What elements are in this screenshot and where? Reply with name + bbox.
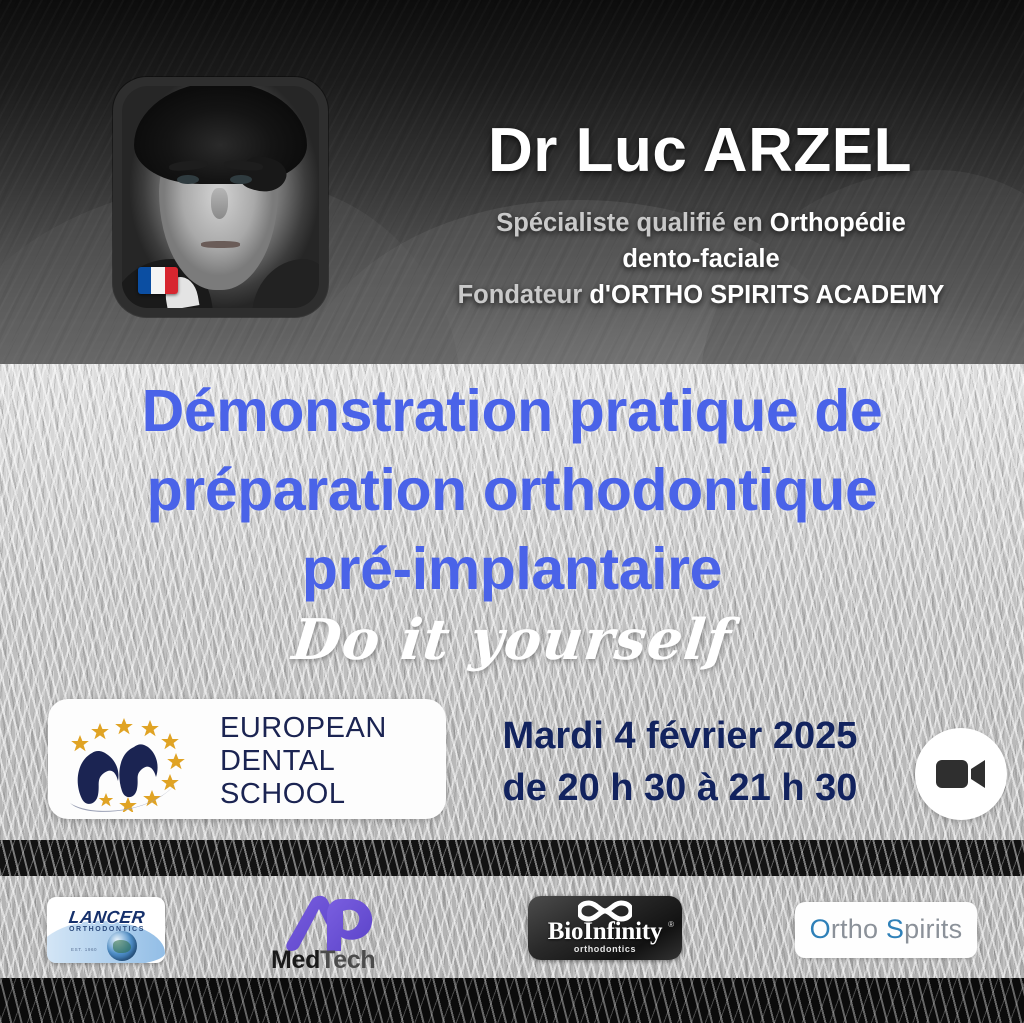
speaker-credentials: Spécialiste qualifié en Orthopédie dento… (406, 205, 996, 314)
european-dental-school-wordmark: EUROPEAN DENTAL SCHOOL (220, 712, 387, 810)
lancer-orthodontics-logo[interactable]: LANCER ORTHODONTICS EST. 1960 (47, 897, 165, 963)
bioinfinity-orthodontics-logo[interactable]: BioInfinity ® orthodontics (528, 896, 682, 960)
bioinfinity-registered-mark: ® (668, 920, 674, 929)
medtech-wordmark: MedTech (271, 946, 375, 975)
portrait-eye-left (177, 175, 199, 184)
portrait-mouth (201, 241, 240, 248)
speaker-portrait-photo (122, 86, 319, 308)
bioinfinity-subtitle: orthodontics (528, 944, 682, 954)
portrait-shoulder-right (252, 259, 319, 308)
event-title-line-3: pré-implantaire (50, 530, 974, 609)
event-title-line-1: Démonstration pratique de (50, 372, 974, 451)
credential-line-2: dento-faciale (406, 241, 996, 277)
eds-line-2: DENTAL (220, 745, 387, 778)
portrait-hair (134, 86, 307, 184)
ortho-spirits-wordmark: Ortho Spirits (795, 914, 977, 945)
event-title: Démonstration pratique de préparation or… (50, 372, 974, 609)
eds-line-3: SCHOOL (220, 778, 387, 811)
speaker-name: Dr Luc ARZEL (420, 120, 980, 182)
french-flag-icon (138, 267, 178, 294)
os-cap-o: O (810, 914, 831, 944)
credential-line-1: Spécialiste qualifié en Orthopédie (406, 205, 996, 241)
medtech-logo[interactable]: MedTech (265, 893, 415, 975)
bioinfinity-wordmark: BioInfinity (528, 918, 682, 946)
medtech-word-bold: Med (271, 946, 320, 974)
medtech-word-light: Tech (320, 946, 375, 974)
os-cap-s: S (886, 914, 904, 944)
portrait-eye-right (230, 175, 252, 184)
lancer-wordmark: LANCER (58, 907, 157, 928)
os-rest-rtho: rtho (831, 914, 886, 944)
event-tagline: Do it yourself (47, 612, 977, 668)
credential-1-emphasis: Orthopédie (770, 209, 906, 237)
lancer-subtitle: ORTHODONTICS (59, 926, 155, 933)
video-camera-badge[interactable] (915, 728, 1007, 820)
credential-3-prefix: Fondateur (458, 281, 590, 309)
globe-icon (107, 931, 137, 961)
credential-1-prefix: Spécialiste qualifié en (496, 209, 770, 237)
speaker-portrait-frame (113, 77, 328, 317)
tooth-with-eu-stars-icon (62, 707, 222, 812)
credential-line-3: Fondateur d'ORTHO SPIRITS ACADEMY (406, 277, 996, 313)
credential-3-emphasis: d'ORTHO SPIRITS ACADEMY (589, 281, 944, 309)
event-time: de 20 h 30 à 21 h 30 (455, 762, 905, 814)
event-date: Mardi 4 février 2025 (455, 710, 905, 762)
webinar-poster: Dr Luc ARZEL Spécialiste qualifié en Ort… (0, 0, 1024, 1023)
ortho-spirits-logo[interactable]: Ortho Spirits (795, 902, 977, 958)
european-dental-school-logo[interactable]: EUROPEAN DENTAL SCHOOL (48, 699, 446, 819)
video-camera-icon (935, 757, 987, 791)
lancer-established: EST. 1960 (71, 947, 97, 952)
dark-band-bottom (0, 978, 1024, 1023)
dark-band-middle (0, 840, 1024, 876)
event-title-line-2: préparation orthodontique (50, 451, 974, 530)
os-rest-pirits: pirits (904, 914, 962, 944)
eds-line-1: EUROPEAN (220, 712, 387, 745)
event-schedule: Mardi 4 février 2025 de 20 h 30 à 21 h 3… (455, 710, 905, 815)
